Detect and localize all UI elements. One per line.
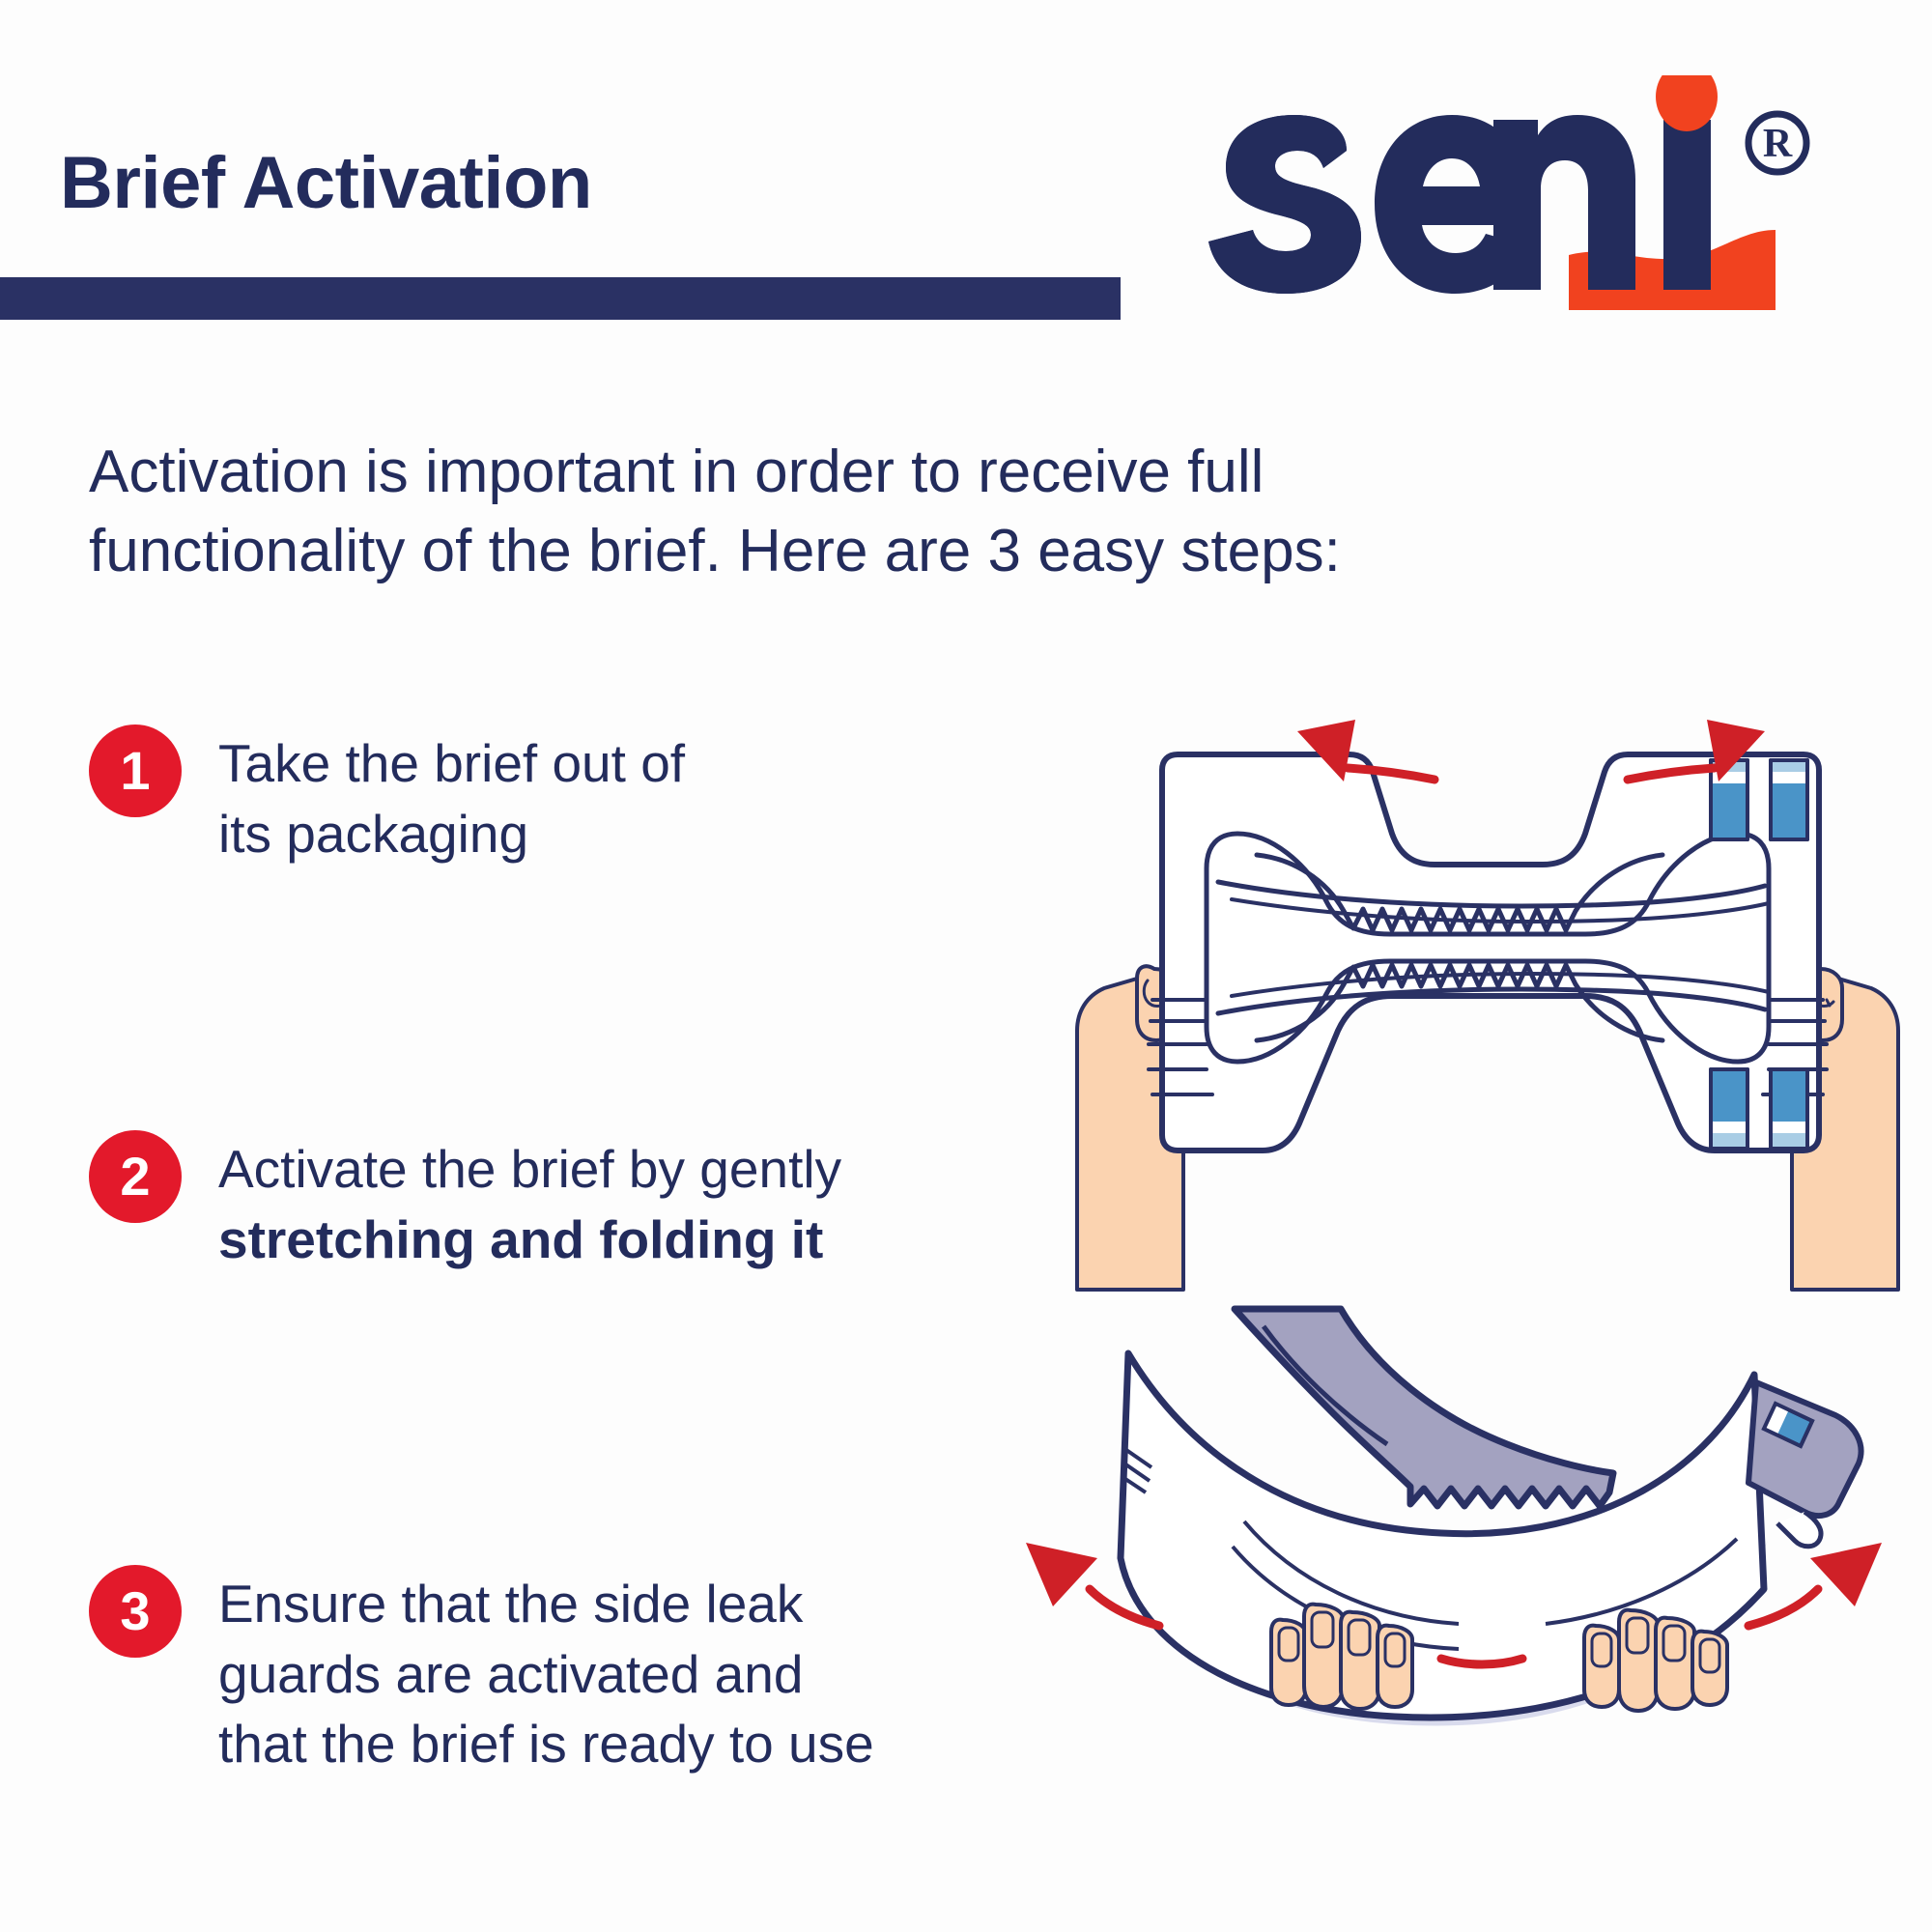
step-text-2: Activate the brief by gently stretching …	[218, 1130, 981, 1274]
header: Brief Activation	[0, 0, 1932, 348]
svg-text:R: R	[1763, 122, 1793, 166]
step-3-line-3: that the brief is ready to use	[218, 1709, 874, 1779]
brief-core-fold	[1235, 1309, 1613, 1506]
step-badge-2: 2	[89, 1130, 182, 1223]
fastening-tab-right	[1748, 1382, 1861, 1547]
step-3-line-2: guards are activated and	[218, 1639, 874, 1710]
registered-trademark-symbol: R	[1748, 114, 1806, 172]
step-text-1: Take the brief out of its packaging	[218, 724, 685, 868]
step-1-line-1: Take the brief out of	[218, 728, 685, 799]
step-item-1: 1 Take the brief out of its packaging	[0, 724, 685, 868]
step-1-line-2: its packaging	[218, 799, 685, 869]
step-2-bold-text: stretching and folding it	[218, 1209, 823, 1269]
brief-fold-illustration	[1005, 1299, 1932, 1763]
intro-line-1: Activation is important in order to rece…	[89, 433, 1818, 512]
step-badge-3: 3	[89, 1565, 182, 1658]
title-underline-bar	[0, 277, 1121, 320]
step-2-normal-text: Activate the brief by gently	[218, 1139, 841, 1199]
step-3-line-1: Ensure that the side leak	[218, 1569, 874, 1639]
intro-paragraph: Activation is important in order to rece…	[89, 433, 1818, 591]
intro-line-2: functionality of the brief. Here are 3 e…	[89, 512, 1818, 591]
seni-logo: R	[1193, 75, 1898, 317]
arrow-right-outward	[1748, 1543, 1882, 1626]
step-item-3: 3 Ensure that the side leak guards are a…	[0, 1565, 874, 1779]
step-item-2: 2 Activate the brief by gently stretchin…	[0, 1130, 981, 1274]
brief-stretch-illustration	[1048, 710, 1927, 1309]
step-text-3: Ensure that the side leak guards are act…	[218, 1565, 874, 1779]
step-badge-1: 1	[89, 724, 182, 817]
page-title: Brief Activation	[60, 147, 592, 220]
infographic-page: Brief Activation	[0, 0, 1932, 1932]
